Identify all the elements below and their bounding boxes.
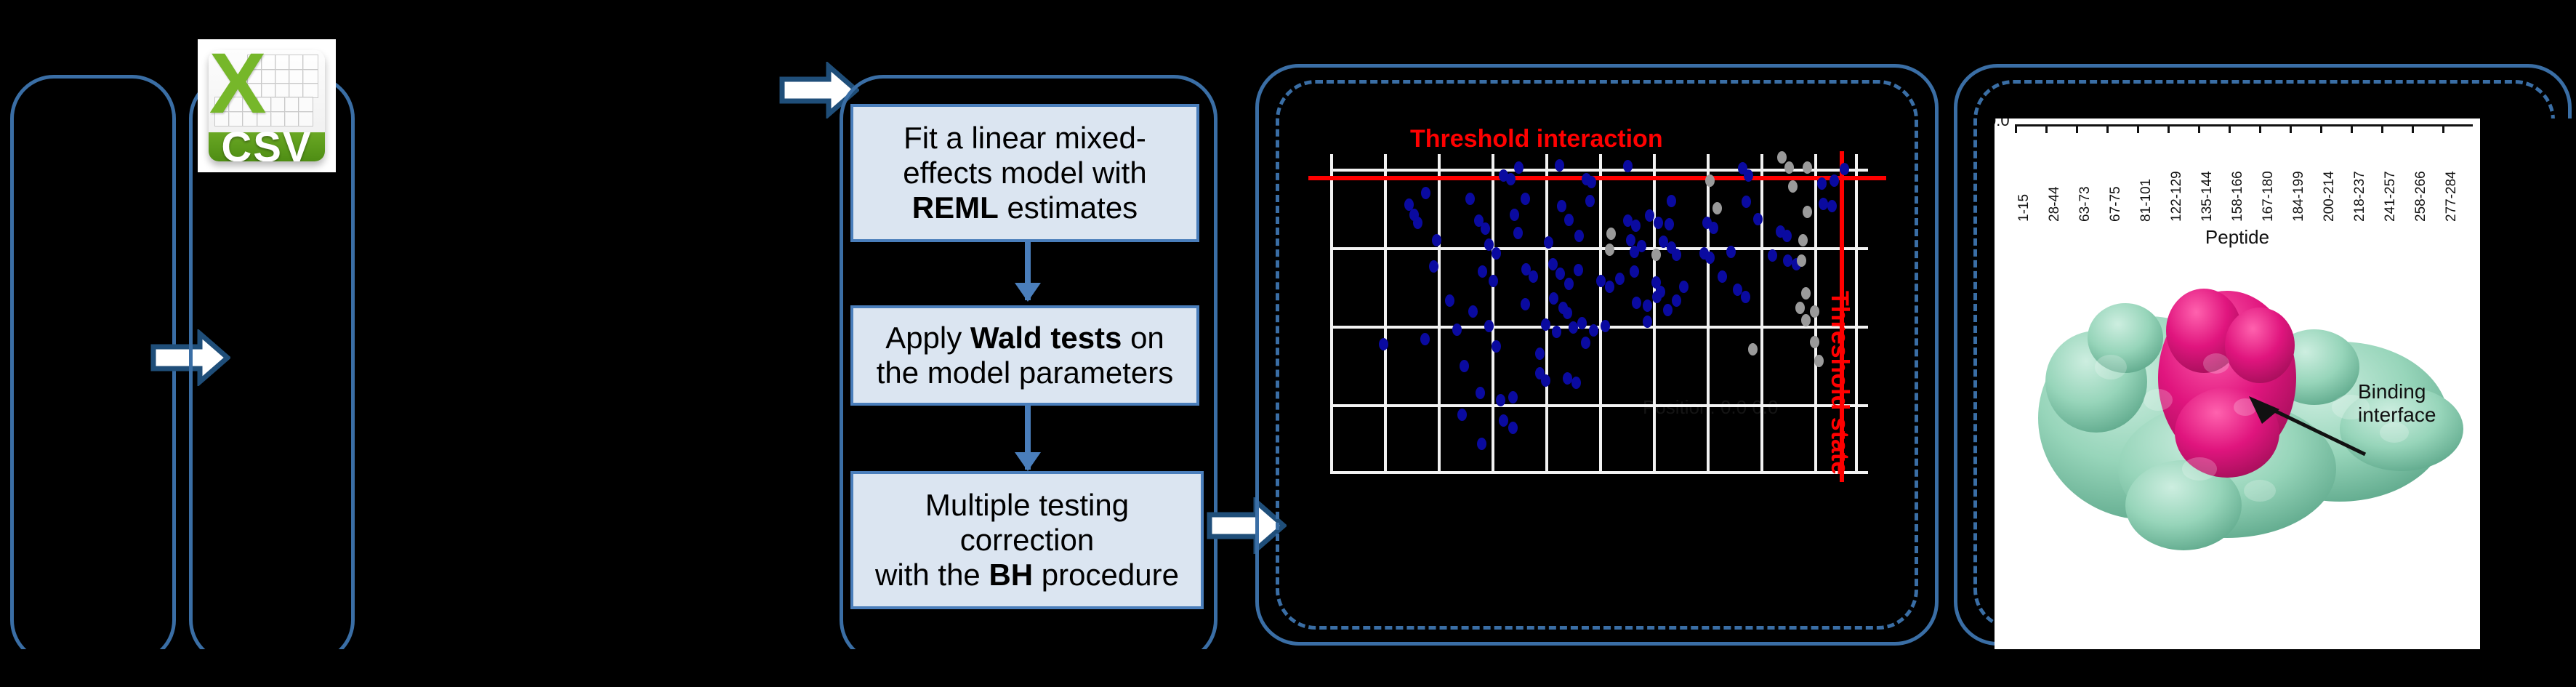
scatter-point-gray (1810, 336, 1819, 348)
gridline (1760, 154, 1763, 474)
binding-interface-line2: interface (2358, 403, 2436, 427)
scatter-point (1413, 217, 1422, 229)
scatter-point (1587, 176, 1596, 188)
right-edge-mask (2480, 118, 2576, 649)
box-fit-model: Fit a linear mixed-effects model withREM… (850, 104, 1199, 242)
peptide-label: 241-257 (2383, 134, 2413, 222)
scatter-point (1637, 240, 1646, 252)
scatter-point (1535, 347, 1545, 360)
scatter-point (1564, 214, 1574, 226)
scatter-point (1460, 360, 1469, 372)
scatter-point (1452, 324, 1462, 336)
scatter-point (1632, 297, 1641, 309)
scatter-point (1705, 252, 1715, 264)
scatter-point (1589, 324, 1598, 337)
scatter-point (1549, 292, 1558, 305)
scatter-point-gray (1784, 161, 1794, 174)
flow-diagram-canvas: X CSV Fit a linear mixed-effects model w… (0, 0, 2576, 687)
scatter-point-gray (1712, 202, 1722, 214)
scatter-point (1574, 230, 1584, 242)
scatter-point (1753, 213, 1763, 225)
scatter-point (1521, 298, 1530, 310)
gridline (1855, 154, 1858, 474)
scatter-point (1623, 160, 1633, 172)
scatter-point (1465, 193, 1475, 205)
scatter-point (1645, 209, 1654, 222)
peptide-x-ticks (2015, 124, 2473, 133)
scatter-point (1709, 222, 1718, 234)
scatter-point (1643, 300, 1652, 312)
scatter-point (1529, 270, 1538, 283)
scatter-point-gray (1606, 228, 1616, 240)
scatter-point-gray (1801, 287, 1811, 300)
scatter-point (1557, 200, 1566, 212)
connector-fit-to-wald (1025, 242, 1031, 300)
csv-format-label: CSV (221, 123, 312, 161)
peptide-y-tick: 0.0 (1995, 118, 2010, 130)
box-multiple-testing-text: Multiple testingcorrectionwith the BH pr… (875, 488, 1179, 593)
scatter-point-gray (1748, 343, 1758, 355)
volcano-title: Threshold interaction (1410, 125, 1663, 153)
scatter-point (1481, 222, 1490, 235)
peptide-label: 81-101 (2138, 134, 2169, 222)
peptide-label: 258-266 (2413, 134, 2444, 222)
gridline (1707, 154, 1710, 474)
scatter-point (1521, 193, 1530, 205)
box-multiple-testing: Multiple testingcorrectionwith the BH pr… (850, 471, 1204, 609)
gridline (1653, 154, 1656, 474)
scatter-point-gray (1801, 314, 1811, 326)
scatter-point-gray (1651, 249, 1661, 261)
scatter-point (1420, 333, 1430, 345)
csv-file-icon: X CSV (198, 39, 336, 172)
scatter-point (1544, 236, 1553, 249)
peptide-category-labels: 1-15 28-44 63-73 67-75 81-101 122-129 13… (2016, 134, 2474, 222)
scatter-point-gray (1777, 151, 1787, 164)
scatter-point (1574, 264, 1583, 276)
peptide-label: 158-166 (2230, 134, 2261, 222)
peptide-label: 167-180 (2261, 134, 2291, 222)
peptide-white-card: 0.0 1-15 28-44 63-73 67-75 81-101 122-12… (1995, 118, 2480, 649)
scatter-point-gray (1797, 254, 1806, 267)
scatter-point (1499, 414, 1508, 427)
scatter-point-gray (1814, 355, 1824, 367)
peptide-label: 218-237 (2352, 134, 2383, 222)
scatter-point-gray (1605, 244, 1614, 256)
scatter-point (1643, 316, 1652, 328)
scatter-point (1457, 409, 1467, 421)
scatter-point (1652, 291, 1662, 303)
scatter-point (1563, 307, 1572, 319)
scatter-point (1555, 159, 1564, 172)
scatter-point (1615, 273, 1625, 285)
scatter-point (1514, 161, 1524, 174)
scatter-point (1782, 230, 1792, 242)
volcano-side-label: Threshold state (1825, 291, 1853, 475)
scatter-point (1744, 169, 1753, 182)
scatter-point (1429, 260, 1438, 273)
connector-wald-to-bh (1025, 406, 1031, 470)
peptide-label: 63-73 (2077, 134, 2108, 222)
peptide-label: 135-144 (2199, 134, 2230, 222)
scatter-point (1492, 340, 1501, 353)
gridline (1492, 154, 1494, 474)
volcano-position-readout: Position: 0.0 0.0 (1643, 396, 1778, 419)
binding-interface-line1: Binding (2358, 380, 2436, 403)
scatter-point (1421, 187, 1430, 199)
scatter-point-gray (1803, 206, 1812, 218)
scatter-point (1513, 227, 1523, 239)
scatter-point (1665, 218, 1674, 230)
scatter-point (1468, 305, 1478, 318)
scatter-point (1552, 326, 1561, 338)
scatter-point (1631, 220, 1641, 232)
peptide-label: 184-199 (2291, 134, 2322, 222)
scatter-point (1830, 174, 1839, 187)
csv-x-letter: X (211, 52, 264, 115)
volcano-plot: Threshold interaction Position: 0.0 0.0 … (1301, 109, 1897, 603)
scatter-point (1663, 304, 1673, 316)
gridline (1545, 154, 1548, 474)
scatter-point (1508, 422, 1518, 434)
scatter-point (1496, 394, 1505, 406)
scatter-point (1581, 337, 1590, 349)
gridline (1330, 154, 1333, 474)
peptide-label: 122-129 (2169, 134, 2199, 222)
peptide-label: 67-75 (2108, 134, 2138, 222)
peptide-label: 277-284 (2444, 134, 2474, 222)
scatter-point (1508, 391, 1518, 403)
scatter-point (1492, 247, 1501, 260)
scatter-point (1718, 270, 1727, 283)
box-wald-tests: Apply Wald tests onthe model parameters (850, 305, 1199, 406)
scatter-point (1667, 195, 1676, 207)
scatter-point (1654, 217, 1663, 229)
scatter-point-gray (1705, 174, 1715, 187)
scatter-point (1768, 249, 1777, 262)
scatter-point (1478, 265, 1487, 278)
scatter-point (1726, 246, 1736, 258)
scatter-point (1484, 320, 1494, 332)
scatter-point (1827, 200, 1837, 212)
scatter-point (1541, 374, 1550, 387)
scatter-point (1601, 320, 1610, 332)
scatter-point (1585, 195, 1595, 207)
csv-format-band: CSV (209, 132, 325, 161)
scatter-point (1626, 234, 1635, 246)
bottom-edge-mask (0, 649, 2576, 687)
scatter-point (1577, 317, 1587, 329)
csv-card: X CSV (209, 50, 325, 162)
gridline (1384, 154, 1387, 474)
scatter-point-gray (1795, 302, 1805, 314)
scatter-point (1555, 268, 1565, 280)
peptide-label: 200-214 (2322, 134, 2352, 222)
scatter-point-gray (1788, 180, 1798, 193)
scatter-point (1445, 294, 1454, 307)
scatter-point (1819, 198, 1828, 210)
scatter-point (1432, 234, 1441, 246)
threshold-interaction-line (1308, 176, 1886, 180)
scatter-point (1741, 291, 1750, 303)
box-fit-model-text: Fit a linear mixed-effects model withREM… (903, 121, 1146, 226)
scatter-point (1379, 338, 1388, 350)
scatter-point-gray (1803, 161, 1812, 174)
scatter-point (1742, 196, 1751, 208)
scatter-point (1476, 387, 1485, 399)
peptide-label: 1-15 (2016, 134, 2047, 222)
scatter-point (1510, 209, 1519, 221)
scatter-point (1489, 275, 1498, 287)
box-wald-tests-text: Apply Wald tests onthe model parameters (877, 321, 1174, 391)
scatter-point (1605, 281, 1614, 293)
scatter-point-gray (1798, 234, 1808, 246)
scatter-point (1564, 278, 1574, 290)
peptide-x-axis-title: Peptide (1995, 226, 2480, 249)
scatter-point (1672, 294, 1681, 307)
scatter-point (1679, 281, 1689, 293)
scatter-point (1596, 275, 1606, 287)
scatter-point (1840, 163, 1849, 175)
scatter-point (1506, 173, 1516, 185)
scatter-point (1477, 438, 1486, 450)
scatter-point (1541, 318, 1550, 331)
scatter-point (1630, 265, 1639, 278)
scatter-point-gray (1810, 305, 1819, 318)
scatter-point (1817, 177, 1827, 190)
protein-pink-ligand (2158, 289, 2296, 478)
gridline (1599, 154, 1602, 474)
scatter-point (1672, 249, 1681, 261)
binding-interface-annotation: Binding interface (2358, 380, 2436, 427)
peptide-label: 28-44 (2047, 134, 2077, 222)
gridline (1438, 154, 1441, 474)
scatter-point (1571, 377, 1581, 389)
